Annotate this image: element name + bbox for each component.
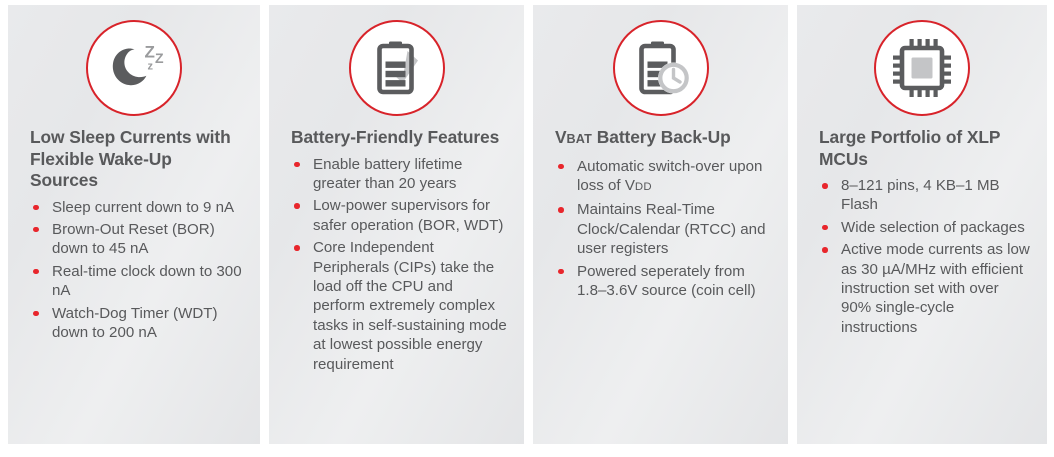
list-item-subscript: DD	[635, 181, 652, 193]
feature-card-board: Z Z z Low Sleep Currents with Flexible W…	[0, 0, 1054, 457]
icon-container	[533, 5, 788, 127]
title-subscript: BAT	[567, 132, 593, 146]
list-item: Active mode currents as low as 30 µA/MHz…	[819, 240, 1031, 337]
list-item-text: 8–121 pins, 4 KB–1 MB Flash	[841, 177, 1000, 213]
list-item-text: Watch-Dog Timer (WDT) down to 200 nA	[52, 305, 217, 341]
list-item-text: Core Independent Peripherals (CIPs) take…	[313, 239, 507, 372]
list-item: Maintains Real-Time Clock/Calendar (RTCC…	[555, 200, 772, 258]
bullet-dot-icon	[294, 203, 300, 209]
card-body: Large Portfolio of XLP MCUs 8–121 pins, …	[797, 127, 1047, 337]
list-item-text: Active mode currents as low as 30 µA/MHz…	[841, 241, 1030, 336]
list-item-text: Wide selection of packages	[841, 219, 1025, 236]
list-item-text: Powered seperately from 1.8–3.6V source …	[577, 263, 756, 299]
svg-text:Z: Z	[145, 43, 155, 62]
list-item: Powered seperately from 1.8–3.6V source …	[555, 262, 772, 301]
svg-text:Z: Z	[155, 50, 164, 66]
list-item: Enable battery lifetime greater than 20 …	[291, 155, 508, 194]
bullet-dot-icon	[558, 164, 564, 170]
bullet-dot-icon	[33, 227, 39, 233]
battery-check-icon	[349, 20, 445, 116]
list-item: Sleep current down to 9 nA	[30, 198, 244, 217]
bullet-dot-icon	[822, 247, 828, 253]
list-item-text: Maintains Real-Time Clock/Calendar (RTCC…	[577, 201, 765, 257]
list-item-text: Automatic switch-over upon loss of V	[577, 158, 762, 194]
microchip-cpu-icon	[874, 20, 970, 116]
feature-bullet-list: Enable battery lifetime greater than 20 …	[291, 155, 508, 374]
bullet-dot-icon	[33, 311, 39, 317]
bullet-dot-icon	[822, 225, 828, 231]
icon-container: Z Z z	[8, 5, 260, 127]
list-item: Brown-Out Reset (BOR) down to 45 nA	[30, 220, 244, 259]
battery-clock-icon	[613, 20, 709, 116]
list-item-text: Real-time clock down to 300 nA	[52, 263, 242, 299]
icon-container	[797, 5, 1047, 127]
list-item-text: Low-power supervisors for safer operatio…	[313, 197, 503, 233]
list-item: Watch-Dog Timer (WDT) down to 200 nA	[30, 304, 244, 343]
feature-card-battery-friendly: Battery-Friendly Features Enable battery…	[269, 5, 524, 444]
feature-card-vbat-battery-backup: VBAT Battery Back-Up Automatic switch-ov…	[533, 5, 788, 444]
icon-container	[269, 5, 524, 127]
list-item: Real-time clock down to 300 nA	[30, 262, 244, 301]
feature-bullet-list: Sleep current down to 9 nA Brown-Out Res…	[30, 198, 244, 343]
list-item: Low-power supervisors for safer operatio…	[291, 196, 508, 235]
card-body: VBAT Battery Back-Up Automatic switch-ov…	[533, 127, 788, 300]
page-title: Large Portfolio of XLP MCUs	[819, 127, 1031, 170]
page-title: Battery-Friendly Features	[291, 127, 508, 149]
list-item-text: Sleep current down to 9 nA	[52, 199, 234, 216]
title-rest: Battery Back-Up	[592, 127, 731, 147]
bullet-dot-icon	[33, 269, 39, 275]
feature-bullet-list: Automatic switch-over upon loss of VDD M…	[555, 157, 772, 301]
bullet-dot-icon	[558, 207, 564, 213]
feature-card-large-portfolio-xlp: Large Portfolio of XLP MCUs 8–121 pins, …	[797, 5, 1047, 444]
list-item: Core Independent Peripherals (CIPs) take…	[291, 238, 508, 374]
bullet-dot-icon	[558, 269, 564, 275]
list-item: 8–121 pins, 4 KB–1 MB Flash	[819, 176, 1031, 215]
list-item-text: Brown-Out Reset (BOR) down to 45 nA	[52, 221, 215, 257]
feature-card-low-sleep-currents: Z Z z Low Sleep Currents with Flexible W…	[8, 5, 260, 444]
page-title: VBAT Battery Back-Up	[555, 127, 772, 151]
bullet-dot-icon	[33, 205, 39, 211]
title-prefix: V	[555, 127, 567, 147]
page-title: Low Sleep Currents with Flexible Wake-Up…	[30, 127, 244, 192]
list-item-text: Enable battery lifetime greater than 20 …	[313, 156, 462, 192]
bullet-dot-icon	[294, 245, 300, 251]
bullet-dot-icon	[822, 183, 828, 189]
list-item: Automatic switch-over upon loss of VDD	[555, 157, 772, 198]
card-body: Low Sleep Currents with Flexible Wake-Up…	[8, 127, 260, 342]
bullet-dot-icon	[294, 162, 300, 168]
moon-sleep-zzz-icon: Z Z z	[86, 20, 182, 116]
list-item: Wide selection of packages	[819, 218, 1031, 237]
card-body: Battery-Friendly Features Enable battery…	[269, 127, 524, 374]
svg-text:z: z	[148, 61, 154, 73]
feature-bullet-list: 8–121 pins, 4 KB–1 MB Flash Wide selecti…	[819, 176, 1031, 337]
